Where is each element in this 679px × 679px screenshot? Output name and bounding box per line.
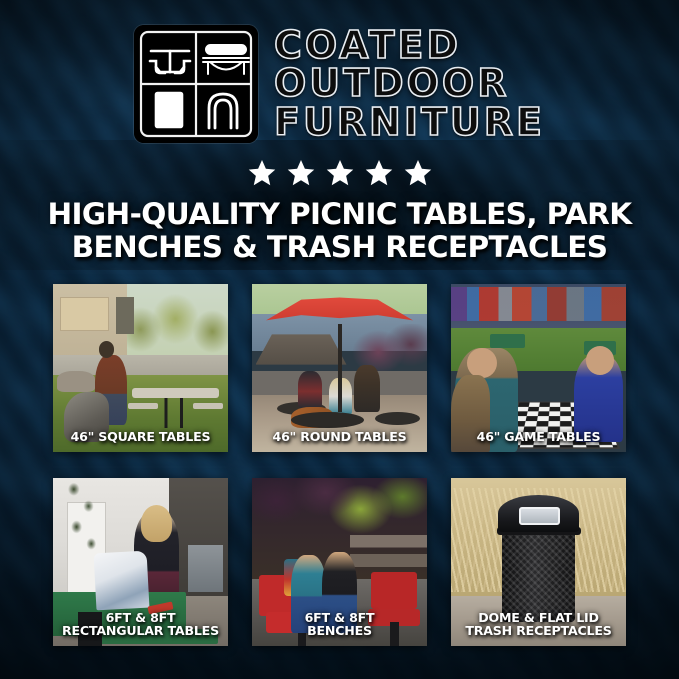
star-icon (247, 158, 277, 188)
brand-lockup: COATED OUTDOOR FURNITURE (0, 22, 679, 146)
product-caption-square-tables: 46" SQUARE TABLES (53, 430, 228, 444)
product-photo-round-tables (252, 284, 427, 452)
product-caption-rectangular-tables: 6FT & 8FT RECTANGULAR TABLES (53, 611, 228, 638)
headline: HIGH-QUALITY PICNIC TABLES, PARK BENCHES… (0, 198, 679, 264)
caption-line-2: TRASH RECEPTACLES (455, 624, 622, 638)
caption-line-1: 46" SQUARE TABLES (71, 429, 211, 444)
coated-outdoor-furniture-quad-logo (134, 25, 258, 143)
brand-wordmark: COATED OUTDOOR FURNITURE (274, 27, 545, 142)
wordmark-line-3: FURNITURE (274, 104, 545, 142)
headline-line-2: BENCHES & TRASH RECEPTACLES (26, 231, 653, 264)
banner-content: COATED OUTDOOR FURNITURE HIGH-QUALITY PI… (0, 0, 679, 679)
star-icon (286, 158, 316, 188)
product-caption-trash-receptacles: DOME & FLAT LID TRASH RECEPTACLES (451, 611, 626, 638)
product-tile-round-tables[interactable]: 46" ROUND TABLES (252, 284, 427, 452)
product-row-1: 46" SQUARE TABLES (53, 284, 626, 452)
caption-line-1: 46" GAME TABLES (477, 429, 601, 444)
product-caption-benches: 6FT & 8FT BENCHES (252, 611, 427, 638)
product-tile-benches[interactable]: 6FT & 8FT BENCHES (252, 478, 427, 646)
product-tile-rectangular-tables[interactable]: 6FT & 8FT RECTANGULAR TABLES (53, 478, 228, 646)
wordmark-line-1: COATED (274, 27, 461, 65)
caption-line-1: 46" ROUND TABLES (273, 429, 407, 444)
product-photo-game-tables (451, 284, 626, 452)
wordmark-line-2: OUTDOOR (274, 65, 510, 103)
advertisement-banner: COATED OUTDOOR FURNITURE HIGH-QUALITY PI… (0, 0, 679, 679)
product-tile-trash-receptacles[interactable]: DOME & FLAT LID TRASH RECEPTACLES (451, 478, 626, 646)
star-icon (364, 158, 394, 188)
headline-line-1: HIGH-QUALITY PICNIC TABLES, PARK (26, 198, 653, 231)
star-icon (325, 158, 355, 188)
star-rating (0, 158, 679, 188)
product-tile-game-tables[interactable]: 46" GAME TABLES (451, 284, 626, 452)
product-photo-square-tables (53, 284, 228, 452)
product-caption-round-tables: 46" ROUND TABLES (252, 430, 427, 444)
caption-line-2: BENCHES (256, 624, 423, 638)
product-category-grid: 46" SQUARE TABLES (53, 284, 626, 646)
product-caption-game-tables: 46" GAME TABLES (451, 430, 626, 444)
product-tile-square-tables[interactable]: 46" SQUARE TABLES (53, 284, 228, 452)
caption-line-2: RECTANGULAR TABLES (57, 624, 224, 638)
product-row-2: 6FT & 8FT RECTANGULAR TABLES (53, 478, 626, 646)
star-icon (403, 158, 433, 188)
